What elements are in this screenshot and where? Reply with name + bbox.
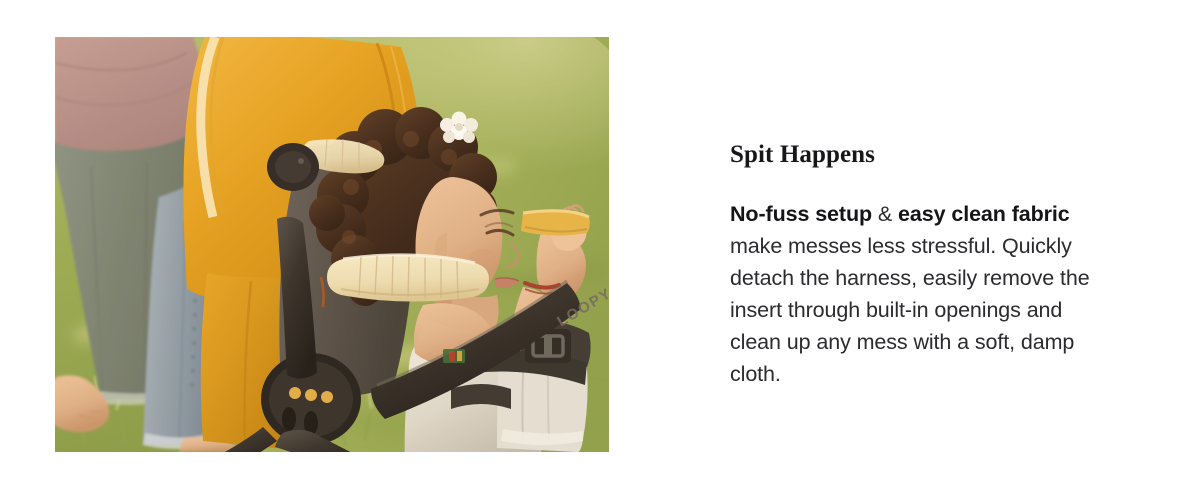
product-lifestyle-photo: LOOPY bbox=[55, 37, 609, 452]
photo-illustration: LOOPY bbox=[55, 37, 609, 452]
section-heading: Spit Happens bbox=[730, 140, 1102, 170]
body-emphasis-setup: No-fuss setup bbox=[730, 202, 872, 226]
section-body: No-fuss setup & easy clean fabric make m… bbox=[730, 198, 1102, 390]
media-column: LOOPY bbox=[55, 37, 609, 452]
body-rest: make messes less stressful. Quickly deta… bbox=[730, 234, 1090, 386]
text-column: Spit Happens No-fuss setup & easy clean … bbox=[730, 140, 1102, 390]
body-conjunction: & bbox=[872, 202, 898, 226]
page-root: LOOPY bbox=[0, 0, 1200, 494]
body-emphasis-fabric: easy clean fabric bbox=[898, 202, 1070, 226]
